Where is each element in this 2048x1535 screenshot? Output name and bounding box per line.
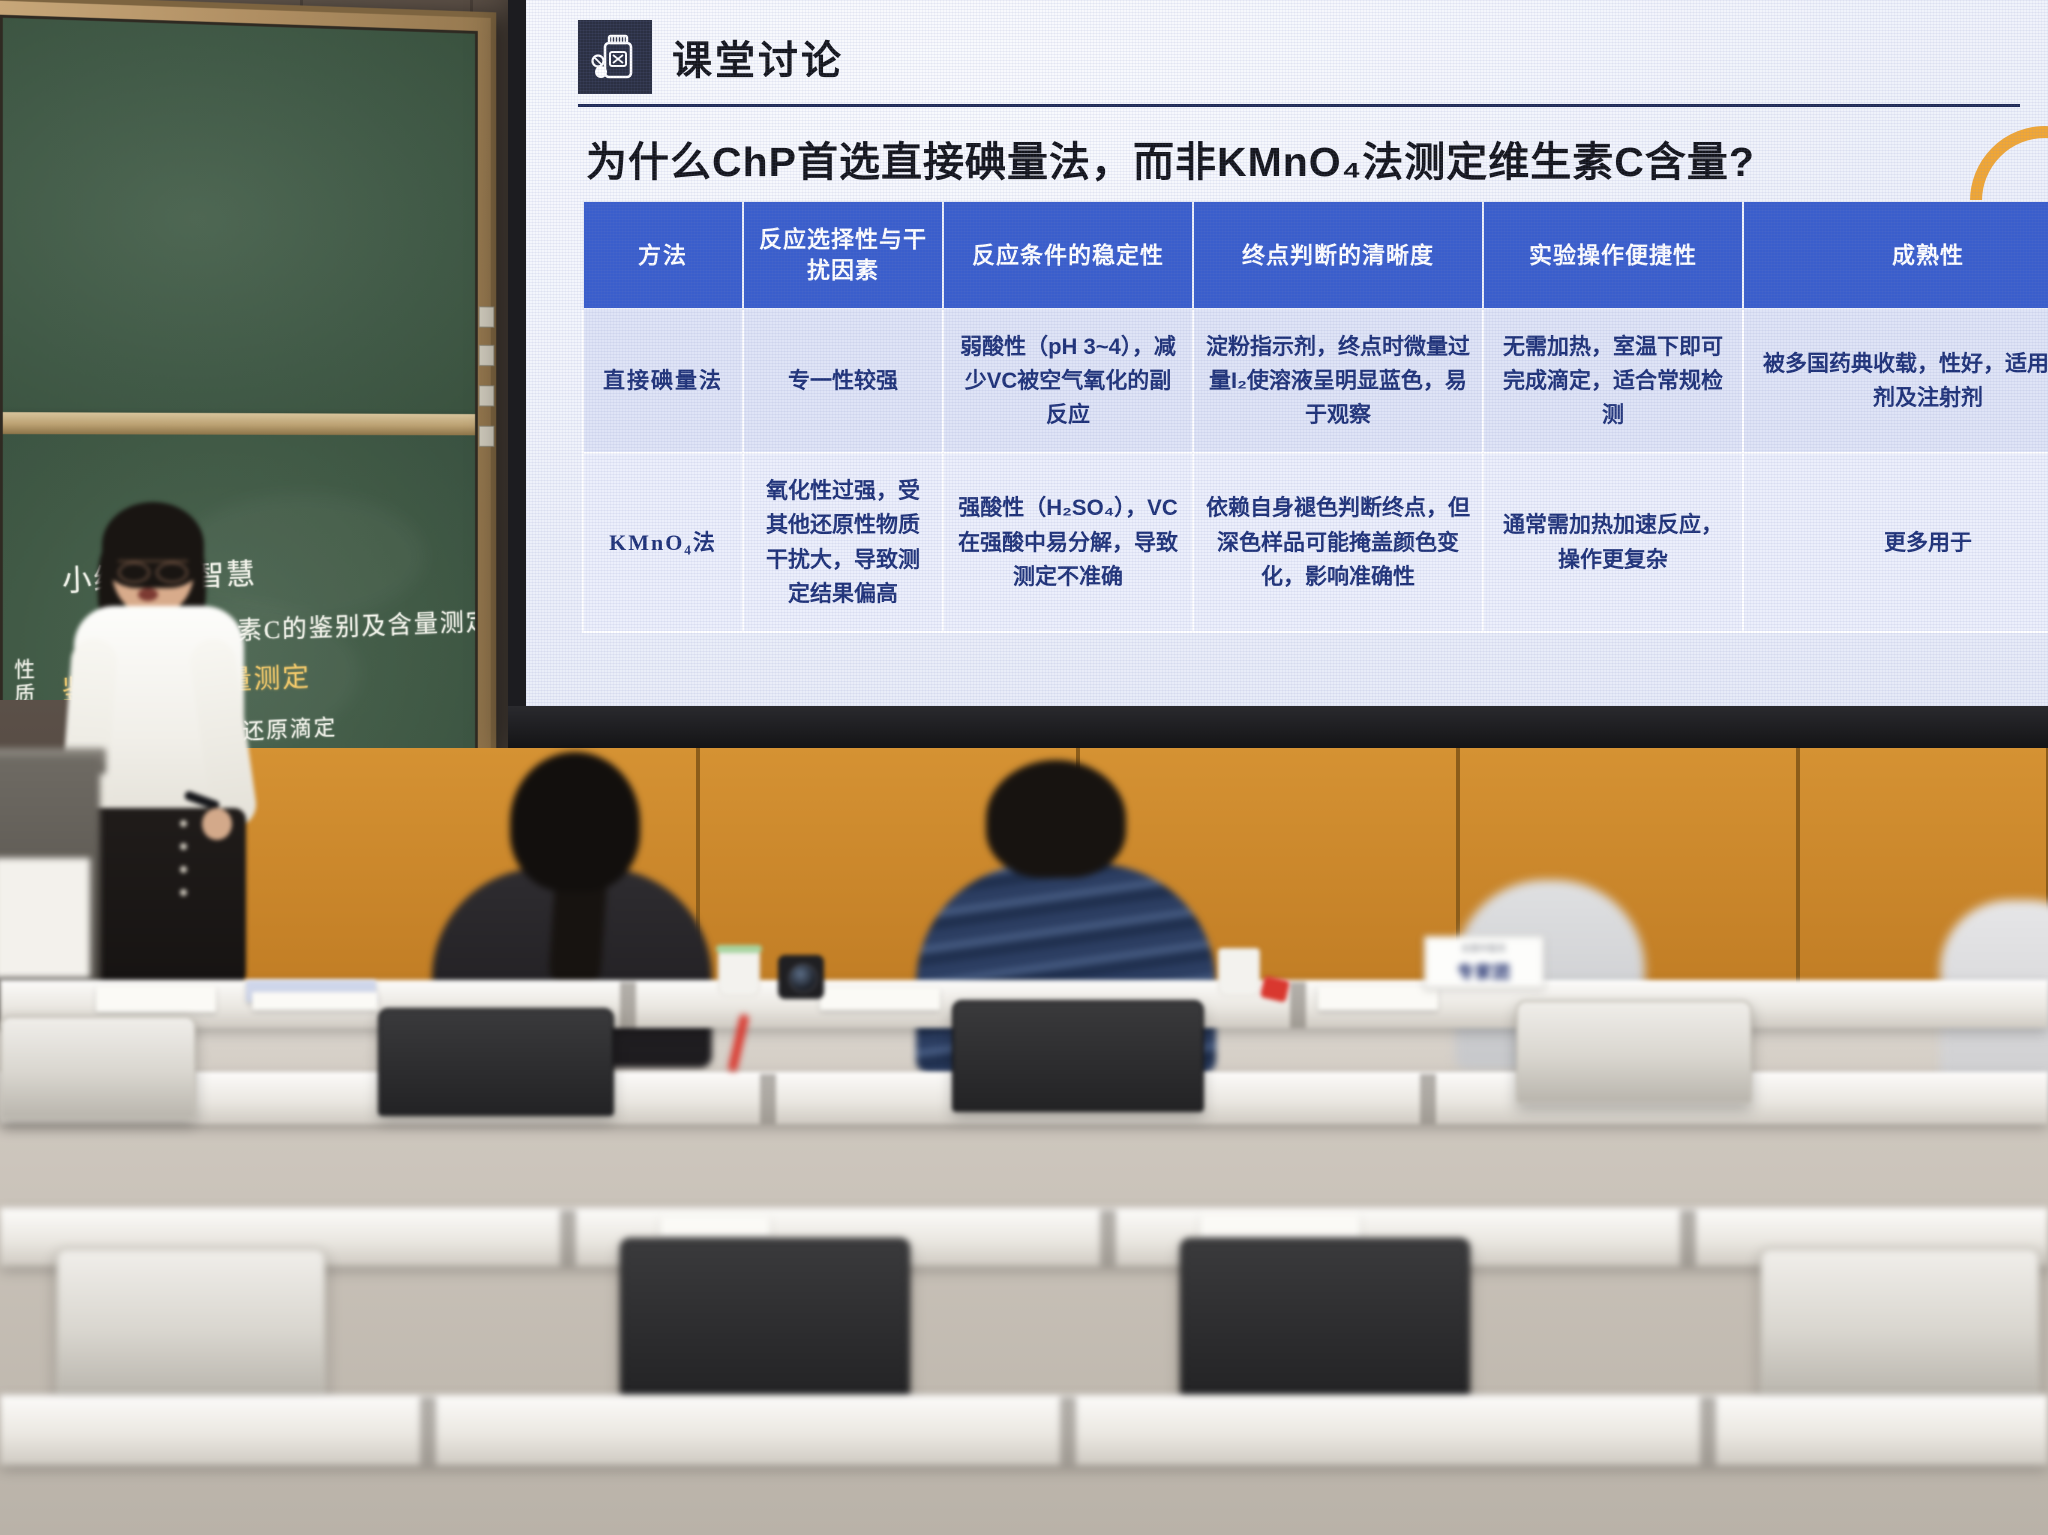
col-header-method: 方法 — [583, 201, 743, 309]
board-tab — [479, 426, 495, 447]
slide-header-title: 课堂讨论 — [672, 28, 844, 86]
slide-header: 课堂讨论 — [578, 18, 2020, 96]
chair — [1760, 1248, 2040, 1398]
cell-method-kmno4: KMnO₄法 — [583, 453, 743, 631]
cell-iodimetry-stability: 弱酸性（pH 3~4），减少VC被空气氧化的副反应 — [943, 309, 1193, 453]
desk-row-4 — [0, 1395, 2048, 1465]
board-tab — [479, 306, 495, 327]
lectern-papers — [0, 858, 90, 978]
chair — [56, 1248, 326, 1398]
papers — [96, 986, 216, 1012]
name-card-main: 专家团 — [1425, 958, 1543, 983]
cell-kmno4-operation: 通常需加热加速反应，操作更复杂 — [1483, 453, 1743, 631]
chair — [1180, 1238, 1470, 1398]
chair — [620, 1238, 910, 1398]
header-divider — [578, 104, 2020, 107]
cell-iodimetry-endpoint: 淀粉指示剂，终点时微量过量I₂使溶液呈明显蓝色，易于观察 — [1193, 309, 1483, 453]
papers — [1200, 1214, 1360, 1240]
chair — [1516, 1000, 1752, 1104]
cell-iodimetry-operation: 无需加热，室温下即可完成滴定，适合常规检测 — [1483, 309, 1743, 453]
chair — [0, 1016, 196, 1120]
col-header-condition-stability: 反应条件的稳定性 — [943, 201, 1193, 309]
papers — [252, 992, 378, 1010]
camera-lens — [778, 955, 824, 999]
board-tab — [479, 385, 495, 406]
projection-screen: 课堂讨论 为什么ChP首选直接碘量法，而非KMnO₄法测定维生素C含量? 方法 … — [508, 0, 2048, 748]
classroom-scene: 性质 小维C, 大智慧 —— 维生素C的鉴别及含量测定 鉴别试验 含量测定 与氧… — [0, 0, 2048, 1535]
table-row: KMnO₄法 氧化性过强，受其他还原性物质干扰大，导致测定结果偏高 强酸性（H₂… — [583, 453, 2048, 631]
name-card: 全国中医药 专家团 — [1424, 936, 1544, 988]
cell-iodimetry-selectivity: 专一性较强 — [743, 309, 943, 453]
cell-kmno4-maturity: 更多用于 — [1743, 453, 2048, 631]
screen-bezel — [508, 706, 2048, 748]
chalk-rail — [3, 412, 475, 435]
cell-method-iodimetry: 直接碘量法 — [583, 309, 743, 453]
papers — [1318, 986, 1438, 1010]
table-row: 直接碘量法 专一性较强 弱酸性（pH 3~4），减少VC被空气氧化的副反应 淀粉… — [583, 309, 2048, 453]
glasses — [118, 560, 188, 577]
col-header-endpoint-clarity: 终点判断的清晰度 — [1193, 201, 1483, 309]
col-header-selectivity: 反应选择性与干扰因素 — [743, 201, 943, 309]
paper-cup — [1218, 948, 1260, 996]
table-header-row: 方法 反应选择性与干扰因素 反应条件的稳定性 终点判断的清晰度 实验操作便捷性 … — [583, 201, 2048, 309]
slide-question: 为什么ChP首选直接碘量法，而非KMnO₄法测定维生素C含量? — [586, 128, 2000, 188]
papers — [660, 1216, 770, 1238]
board-tab — [479, 345, 495, 366]
col-header-maturity: 成熟性 — [1743, 201, 2048, 309]
cell-kmno4-stability: 强酸性（H₂SO₄），VC在强酸中易分解，导致测定不准确 — [943, 453, 1193, 631]
medicine-bottle-icon — [578, 20, 652, 94]
chair — [952, 1000, 1204, 1112]
col-header-operation-convenience: 实验操作便捷性 — [1483, 201, 1743, 309]
name-card-top: 全国中医药 — [1425, 943, 1543, 954]
papers — [820, 988, 940, 1010]
chair — [378, 1008, 614, 1116]
cell-kmno4-endpoint: 依赖自身褪色判断终点，但深色样品可能掩盖颜色变化，影响准确性 — [1193, 453, 1483, 631]
paper-cup — [718, 950, 760, 996]
cell-kmno4-selectivity: 氧化性过强，受其他还原性物质干扰大，导致测定结果偏高 — [743, 453, 943, 631]
cell-iodimetry-maturity: 被多国药典收载，性好，适用于片剂及注射剂 — [1743, 309, 2048, 453]
comparison-table: 方法 反应选择性与干扰因素 反应条件的稳定性 终点判断的清晰度 实验操作便捷性 … — [582, 200, 2048, 633]
slide-surface: 课堂讨论 为什么ChP首选直接碘量法，而非KMnO₄法测定维生素C含量? 方法 … — [526, 0, 2048, 706]
